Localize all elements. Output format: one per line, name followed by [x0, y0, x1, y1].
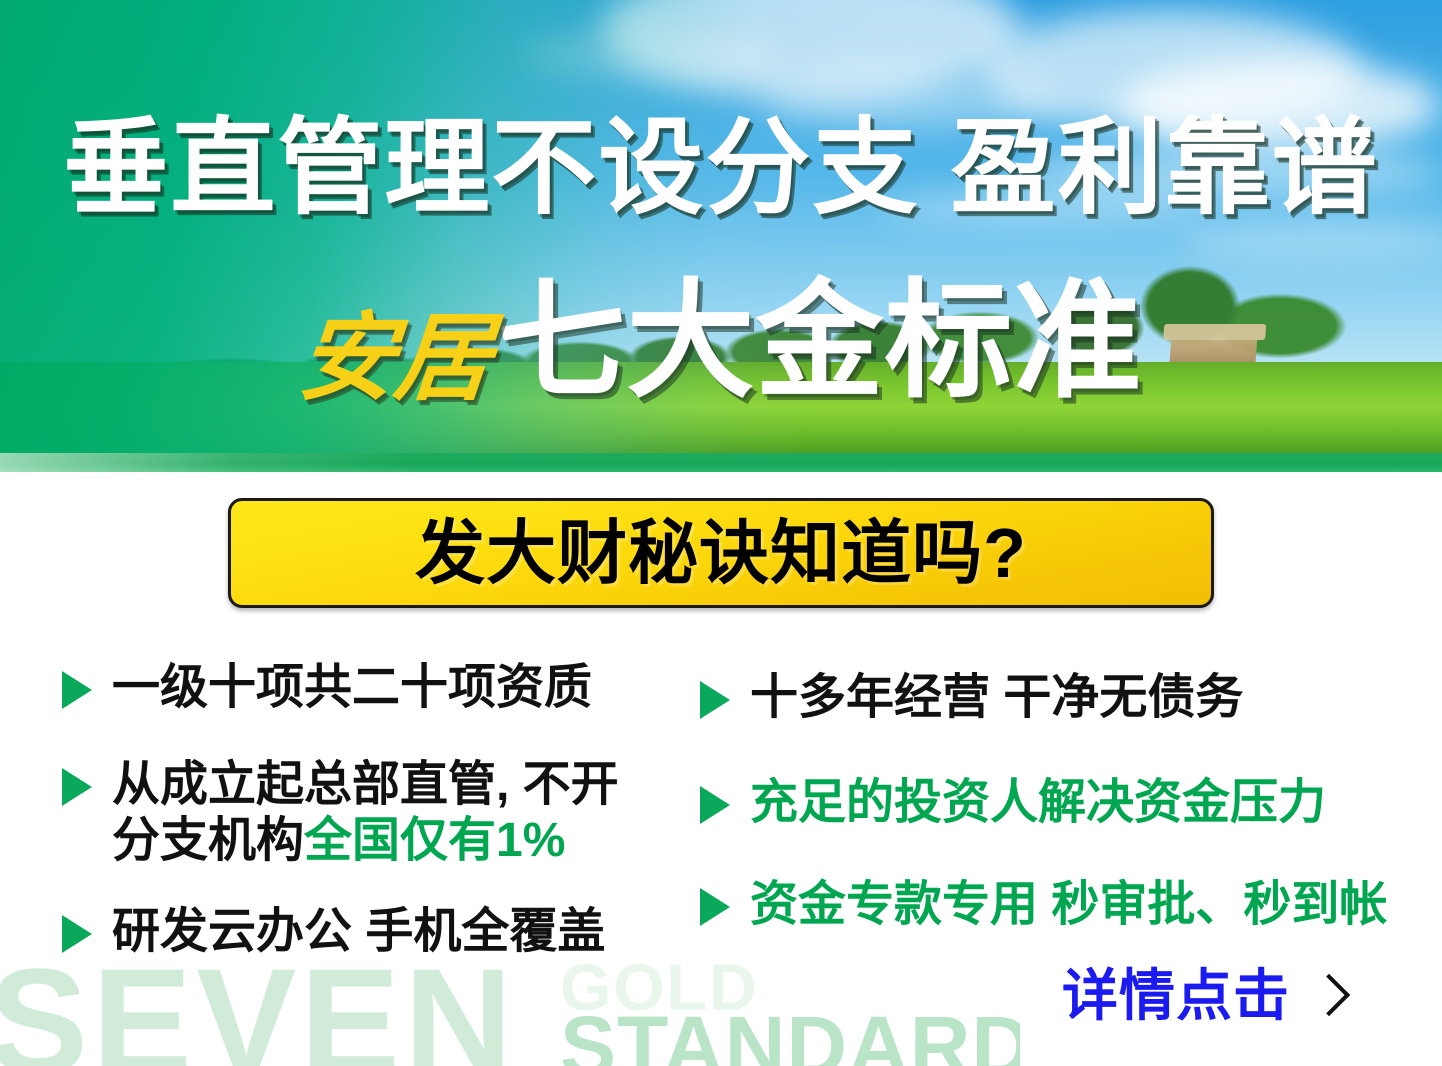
hero-section: 垂直管理不设分支 盈利靠谱 安居七大金标准 [0, 0, 1442, 472]
promo-question-banner[interactable]: 发大财秘诀知道吗? [228, 498, 1214, 608]
chevron-right-icon [1308, 974, 1350, 1016]
detail-cta-button[interactable]: 详情点击 [1062, 968, 1344, 1024]
feature-text: 从成立起总部直管, 不开 分支机构全国仅有1% [112, 757, 619, 870]
promo-question-text: 发大财秘诀知道吗? [415, 518, 1027, 588]
feature-item: 十多年经营 干净无债务 [700, 670, 1400, 727]
feature-text: 一级十项共二十项资质 [112, 660, 592, 717]
feature-item: 从成立起总部直管, 不开 分支机构全国仅有1% [62, 757, 702, 870]
advertisement-banner: 垂直管理不设分支 盈利靠谱 安居七大金标准 发大财秘诀知道吗? 一级十项共二十项… [0, 0, 1442, 1066]
features-section: 一级十项共二十项资质 从成立起总部直管, 不开 分支机构全国仅有1% 研发云办公… [0, 660, 1442, 990]
triangle-right-icon [62, 768, 92, 806]
feature-text-line2: 分支机构全国仅有1% [112, 813, 619, 870]
feature-item: 资金专款专用 秒审批、秒到帐 [700, 877, 1400, 934]
triangle-right-icon [62, 915, 92, 953]
feature-text: 充足的投资人解决资金压力 [750, 775, 1326, 832]
triangle-right-icon [700, 888, 730, 926]
feature-text: 资金专款专用 秒审批、秒到帐 [750, 877, 1387, 934]
brand-name-text: 安居 [295, 311, 495, 407]
hero-headline-main-text: 七大金标准 [497, 278, 1142, 406]
triangle-right-icon [700, 681, 730, 719]
detail-cta-label: 详情点击 [1062, 968, 1290, 1024]
triangle-right-icon [62, 671, 92, 709]
feature-item: 充足的投资人解决资金压力 [700, 775, 1400, 832]
feature-text-plain: 分支机构 [112, 814, 304, 867]
triangle-right-icon [700, 786, 730, 824]
watermark-standards-text: STANDARDS [560, 1004, 1020, 1066]
hero-band-fade [0, 453, 420, 472]
feature-item: 一级十项共二十项资质 [62, 660, 702, 717]
features-left-column: 一级十项共二十项资质 从成立起总部直管, 不开 分支机构全国仅有1% 研发云办公… [62, 660, 702, 991]
feature-text: 十多年经营 干净无债务 [750, 670, 1243, 727]
feature-text: 研发云办公 手机全覆盖 [112, 904, 605, 961]
feature-text-line1: 从成立起总部直管, 不开 [112, 757, 619, 814]
features-right-column: 十多年经营 干净无债务 充足的投资人解决资金压力 资金专款专用 秒审批、秒到帐 [700, 670, 1400, 964]
hero-headline-secondary: 安居七大金标准 [0, 278, 1442, 407]
feature-text-highlight: 全国仅有1% [304, 814, 565, 867]
hero-headline-primary: 垂直管理不设分支 盈利靠谱 [0, 116, 1442, 221]
feature-item: 研发云办公 手机全覆盖 [62, 904, 702, 961]
